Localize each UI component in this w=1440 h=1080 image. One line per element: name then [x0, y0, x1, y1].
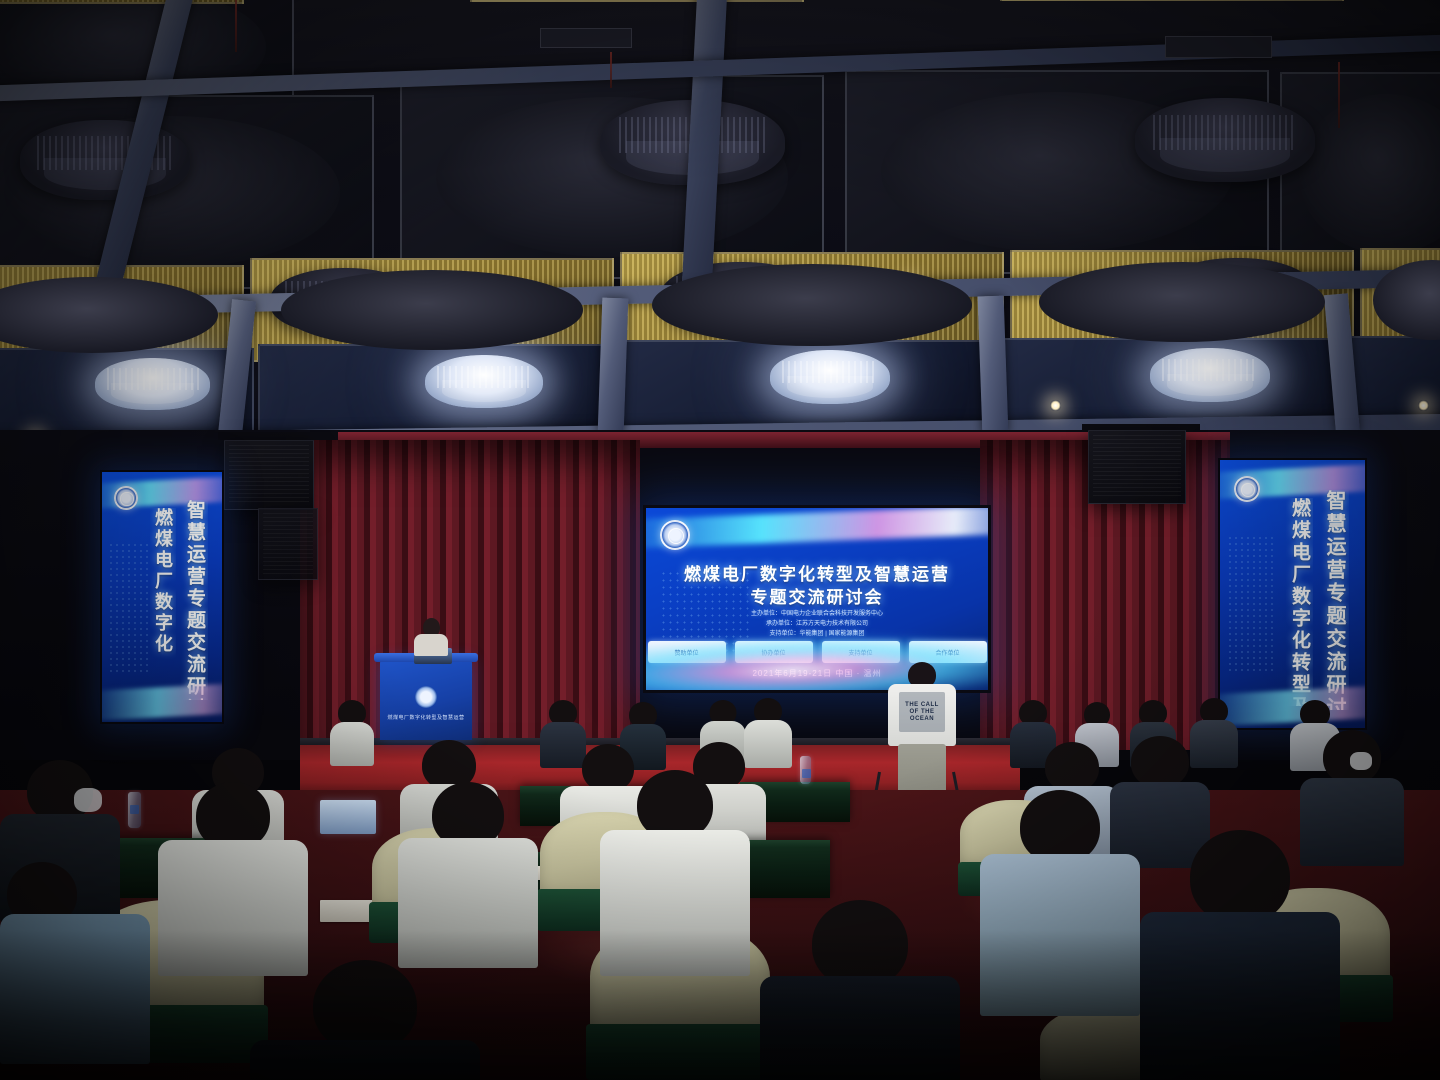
audience-torso: [0, 914, 150, 1064]
screen-sub-line-2: 承办单位：江苏方天电力技术有限公司: [646, 618, 988, 627]
presenter-body: [414, 634, 448, 656]
face-mask: [1350, 752, 1372, 770]
audience-member: [398, 782, 538, 962]
audience-member: [158, 782, 308, 972]
screen-title-line2: 专题交流研讨会: [646, 583, 988, 608]
conference-hall-photo: 燃煤电厂数字化转型及智慧运营 专题交流研讨会 主办单位：中国电力企业联合会科技开…: [0, 0, 1440, 1080]
audience-torso: [600, 830, 750, 976]
audience-head: [1045, 742, 1099, 792]
pa-speaker-right: [1088, 430, 1186, 504]
ceiling-coffer-gold: [470, 0, 804, 2]
attendee-laptop: [320, 800, 376, 834]
association-emblem-icon: [114, 486, 138, 510]
chandelier-dark: [1135, 98, 1315, 182]
association-emblem-icon: [1234, 476, 1260, 502]
screen-sub-line-1: 主办单位：中国电力企业联合会科技开发服务中心: [646, 608, 988, 617]
ceiling-vent: [540, 28, 632, 48]
audience-torso: [760, 976, 960, 1080]
ceiling-coffer: [400, 75, 824, 279]
right-banner-column-1: 智慧运营专题交流研讨会: [1320, 490, 1349, 710]
audience-member: [600, 770, 750, 970]
ceiling-downlight: [1050, 400, 1061, 411]
ceiling-coffer-gold: [1000, 0, 1344, 1]
ceiling-coffer: [1280, 72, 1440, 276]
audience-member: [0, 862, 150, 1062]
association-emblem-icon: [660, 520, 690, 550]
screen-swoosh-top: [643, 505, 991, 549]
pa-speaker-left: [224, 440, 314, 510]
audience-member: [330, 700, 374, 760]
ceiling-cable: [610, 52, 612, 88]
pa-speaker-left-lower: [258, 508, 318, 580]
tshirt-line-1: THE CALL: [905, 702, 939, 708]
presenter: [414, 618, 448, 654]
audience-head: [1190, 830, 1290, 924]
chandelier-lit: [95, 358, 210, 410]
screen-title-line1: 燃煤电厂数字化转型及智慧运营: [646, 560, 988, 585]
chandelier-lit: [770, 350, 890, 404]
podium-emblem-icon: [415, 686, 437, 708]
ceiling-beam: [978, 296, 1009, 435]
podium-label: 燃煤电厂数字化转型及智慧运营: [380, 714, 472, 721]
tshirt-print: THE CALL OF THE OCEAN: [899, 692, 945, 732]
tshirt-line-2: OF THE: [909, 709, 934, 715]
audience-member: [1140, 830, 1340, 1080]
audience-head: [1020, 790, 1100, 864]
audience-member: [760, 900, 960, 1080]
audience-member: [980, 790, 1140, 1010]
face-mask: [74, 788, 102, 812]
tshirt-line-3: OCEAN: [910, 716, 934, 722]
audience-torso: [398, 838, 538, 968]
chandelier-lit: [1150, 348, 1270, 402]
water-bottle: [128, 792, 141, 828]
audience-head: [812, 900, 908, 988]
ceiling-coffer-gold: [0, 0, 244, 4]
ceiling-vent: [1165, 36, 1272, 58]
water-bottle: [800, 756, 811, 784]
audience-torso: [330, 722, 374, 766]
ceiling-cable: [1338, 62, 1340, 128]
chair-sash: [586, 1024, 773, 1080]
left-banner-column-2: 燃煤电厂数字化: [150, 508, 176, 693]
left-banner-column-1: 智慧运营专题交流研讨会: [181, 500, 208, 700]
speaker-podium: 燃煤电厂数字化转型及智慧运营: [380, 660, 472, 740]
right-banner-column-2: 燃煤电厂数字化转型及: [1286, 498, 1313, 706]
ceiling-downlight: [1418, 400, 1429, 411]
chandelier-dark: [20, 120, 190, 200]
ceiling-cable: [235, 0, 237, 52]
audience-head: [1131, 736, 1189, 788]
audience-member: [250, 960, 480, 1080]
audience-head: [313, 960, 417, 1052]
audience-torso: [158, 840, 308, 976]
ballroom-ceiling: [0, 0, 1440, 445]
audience-torso: [1140, 912, 1340, 1080]
audience-torso: [980, 854, 1140, 1016]
chandelier-lit: [425, 355, 543, 408]
speaker-truss: [218, 432, 338, 440]
left-vertical-led-banner: 智慧运营专题交流研讨会 燃煤电厂数字化: [100, 470, 224, 724]
right-vertical-led-banner: 智慧运营专题交流研讨会 燃煤电厂数字化转型及: [1218, 458, 1367, 730]
ceiling-beam: [598, 298, 629, 435]
audience-torso: [250, 1040, 480, 1080]
